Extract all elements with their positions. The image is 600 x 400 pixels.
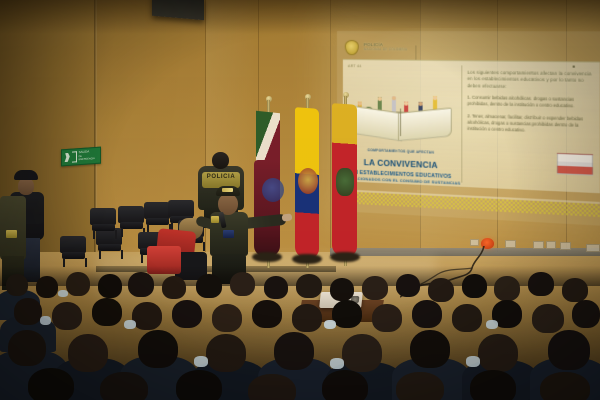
attendee-head (6, 274, 28, 296)
slide-bullet-dot (573, 66, 575, 68)
attendee-head (478, 334, 518, 372)
door-icon (72, 151, 77, 162)
attendee-head (428, 278, 454, 302)
attendee-head (322, 370, 368, 400)
attendee-head (14, 298, 42, 325)
attendee-head (462, 274, 487, 298)
book-page-right (398, 108, 452, 142)
slide-bullet-1: 1. Consumir bebidas alcohólicas, drogas … (467, 95, 593, 111)
slide-header: POLICÍA NACIONAL DE COLOMBIA (345, 37, 598, 59)
attendee-head (128, 272, 154, 297)
face-mask (58, 290, 68, 297)
attendee-head (28, 368, 74, 400)
face-mask (124, 320, 136, 329)
slide-header-rule (415, 45, 416, 59)
shoulder-patch (211, 216, 219, 223)
attendee-head (212, 304, 242, 332)
face-mask (40, 316, 51, 325)
attendee-head (92, 298, 122, 326)
id-badge-lanyard (223, 230, 234, 238)
wall-socket (533, 241, 544, 249)
head (18, 178, 34, 195)
attendee-head (292, 304, 322, 332)
illustration-children-on-open-book (348, 70, 456, 146)
photo-scene: SALIDA DE EMERGENCIA POLICÍA NACIONAL DE… (0, 0, 600, 400)
attendee-head (206, 334, 246, 372)
slide-org-line-2: NACIONAL DE COLOMBIA (364, 47, 408, 53)
attendee-head (396, 372, 444, 400)
attendee-head (8, 330, 46, 366)
face-mask (194, 356, 208, 367)
slide-title-line-1: COMPORTAMIENTOS QUE AFECTAN (346, 147, 457, 155)
attendee-head (372, 304, 402, 332)
attendee-head (248, 374, 296, 400)
attendee-head (332, 300, 362, 328)
officer-head (212, 152, 229, 169)
attendee-head (252, 300, 282, 328)
chair[interactable] (60, 236, 86, 266)
attendee-head (66, 272, 90, 296)
attendee-head (230, 272, 255, 296)
attendee-head (52, 302, 82, 330)
slide-bullet-2: 2. Tener, almacenar, facilitar, distribu… (467, 113, 593, 136)
exit-sign-sublabel: DE EMERGENCIA (79, 154, 98, 162)
attendee-head (162, 276, 186, 299)
attendee-head (296, 274, 322, 298)
exit-sign: SALIDA DE EMERGENCIA (61, 147, 101, 167)
book-page-left (350, 105, 402, 141)
open-book-illustration (350, 108, 452, 142)
face-mask (486, 320, 498, 329)
officer-right-arm (242, 214, 287, 230)
attendee-head (452, 304, 482, 332)
attendee-head (412, 300, 442, 328)
attendee-head (274, 332, 314, 370)
projected-slide: POLICÍA NACIONAL DE COLOMBIA ART 44 (337, 31, 600, 226)
wall-socket (560, 242, 571, 250)
olive-uniform-body (0, 196, 26, 260)
attendee-head (562, 278, 588, 302)
slide-right-panel: Los siguientes comportamientos afectan l… (460, 61, 600, 193)
flag-stand-base (292, 254, 322, 264)
attendee-head (362, 276, 388, 300)
wall-socket (586, 244, 600, 252)
face-mask (324, 320, 336, 329)
attendee-head (470, 370, 516, 400)
jacket-text: POLICIA (202, 174, 240, 180)
attendee-head (330, 278, 354, 301)
wall-socket (546, 241, 556, 249)
face-mask (330, 358, 344, 369)
attendee-head (532, 304, 564, 333)
attendee-head (138, 330, 178, 368)
attendee-head (494, 276, 520, 301)
seated-students-audience (0, 272, 600, 400)
attendee-head (396, 274, 420, 297)
attendee-head (264, 276, 288, 299)
slide-article-tag: ART 44 (348, 64, 456, 69)
attendee-head (98, 274, 122, 298)
face-mask (466, 356, 480, 367)
slide-title-highlight: LA CONVIVENCIA (364, 158, 438, 170)
ceiling-shadow (0, 0, 600, 34)
book-spine (400, 109, 401, 137)
running-person-exit-icon (64, 153, 70, 162)
slide-intro-text: Los siguientes comportamientos afectan l… (467, 70, 593, 92)
attendee-head (100, 372, 148, 400)
slide-title-block: COMPORTAMIENTOS QUE AFECTAN LA CONVIVENC… (346, 147, 457, 185)
attendee-head (196, 274, 222, 298)
cap (14, 170, 38, 180)
uniform-patch (6, 230, 17, 238)
attendee-head (540, 372, 590, 400)
attendee-head (68, 334, 108, 372)
flag-colombia-emblem (298, 168, 318, 194)
police-shield-emblem (345, 40, 359, 55)
wall-panel-seam (330, 0, 331, 270)
flag-emblem-3 (336, 168, 354, 196)
attendee-head (548, 330, 590, 370)
chair[interactable] (90, 208, 116, 238)
attendee-head (132, 302, 162, 330)
attendee-head (410, 330, 450, 368)
slide-left-panel: ART 44 (343, 60, 460, 187)
cap-badge (222, 188, 233, 192)
slide-flag-graphic (557, 153, 593, 176)
attendee-head (342, 334, 382, 372)
slide-body: ART 44 (343, 59, 600, 193)
attendee-head (36, 276, 58, 298)
attendee-head (572, 300, 600, 328)
attendee-head (172, 300, 202, 328)
flag-stand-base (330, 252, 360, 262)
attendee-head (176, 370, 222, 400)
attendee-head (528, 272, 554, 296)
wall-socket (470, 239, 479, 246)
